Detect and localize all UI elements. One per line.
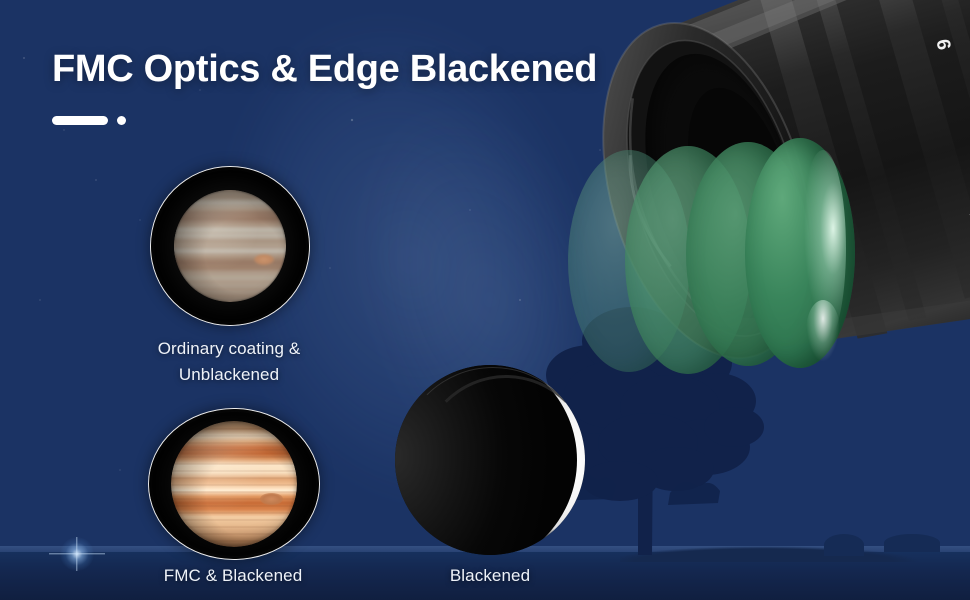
blackened-lens-edge-closeup [395,365,585,555]
bush-silhouette [884,534,940,552]
caption-ordinary-line1: Ordinary coating & [158,339,301,358]
caption-ordinary: Ordinary coating &Unblackened [109,336,349,388]
eyepiece-ordinary-coating [150,166,310,326]
caption-blackened: Blackened [370,563,610,589]
title-underline-decoration [52,116,126,125]
caption-fmc: FMC & Blackened [113,563,353,589]
jupiter-washed-out [174,190,286,302]
bush-silhouette [824,534,864,556]
eyepiece-fmc-blackened [148,408,320,560]
page-title: FMC Optics & Edge Blackened [52,48,597,91]
title-underline-dot [117,116,126,125]
lens-edge-gleam [806,300,840,362]
jupiter-high-contrast [171,421,297,547]
lens-edge-bright-crescent [443,369,585,555]
caption-ordinary-line2: Unblackened [179,365,279,384]
product-banner: 6 2 FMC Optics & Edge Blackened Ordinary… [0,0,970,600]
bright-star-glow [60,537,94,571]
jupiter-shading [171,421,297,547]
jupiter-shading [174,190,286,302]
title-underline-bar [52,116,108,125]
